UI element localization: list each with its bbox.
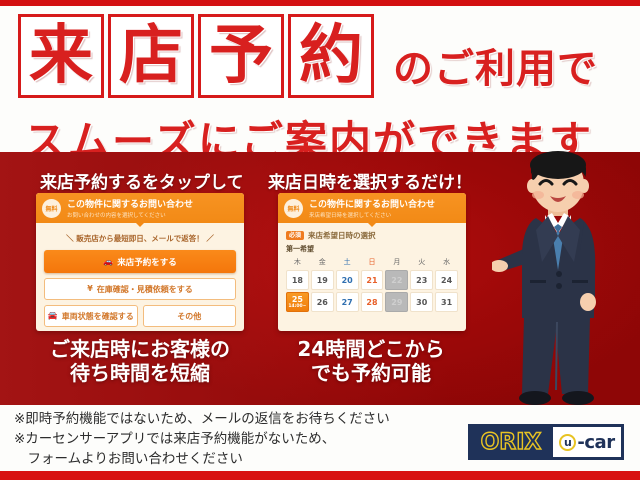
stock-quote-button[interactable]: ¥ 在庫確認・見積依頼をする <box>44 278 236 300</box>
header-notch <box>135 222 145 227</box>
calendar-day-19[interactable]: 19 <box>311 270 334 290</box>
salesman-illustration <box>492 150 624 408</box>
car-icon: 🚗 <box>103 258 113 266</box>
calendar-weekday-土: 土 <box>336 257 359 268</box>
calendar-day-31[interactable]: 31 <box>435 292 458 312</box>
calendar-day-21[interactable]: 21 <box>361 270 384 290</box>
boxed-kanji-3: 予 <box>198 14 284 98</box>
calendar-day-22: 22 <box>385 270 408 290</box>
mockup-header-subtitle: 来店希望日時を選択してください <box>309 211 435 219</box>
header-notch <box>367 222 377 227</box>
calendar-day-26[interactable]: 26 <box>311 292 334 312</box>
free-badge: 無料 <box>42 199 61 218</box>
calendar-grid[interactable]: 木金土日月火水181920212223242514:00~26272829303… <box>286 257 458 312</box>
calendar-day-number: 25 <box>292 295 303 304</box>
left-caption: ご来店時にお客様の 待ち時間を短縮 <box>18 337 262 386</box>
calendar-day-number: 27 <box>342 298 353 307</box>
bottom-red-rule <box>0 471 640 480</box>
calendar-weekday-月: 月 <box>385 257 408 268</box>
calendar-mockup: 無料 この物件に関するお問い合わせ 来店希望日時を選択してください 必須 来店希… <box>278 193 466 331</box>
boxed-kanji-1: 来 <box>18 14 104 98</box>
orix-wordmark: ORIX <box>469 425 553 459</box>
calendar-day-number: 20 <box>342 276 353 285</box>
boxed-kanji-4: 約 <box>288 14 374 98</box>
u-circle-icon: u <box>559 434 576 451</box>
calendar-day-number: 18 <box>292 276 303 285</box>
calendar-day-23[interactable]: 23 <box>410 270 433 290</box>
calendar-weekday-木: 木 <box>286 257 309 268</box>
inquiry-form-mockup: 無料 この物件に関するお問い合わせ お問い合わせの内容を選択してください ＼ 販… <box>36 193 244 331</box>
top-red-rule <box>0 0 640 6</box>
calendar-day-30[interactable]: 30 <box>410 292 433 312</box>
calendar-day-number: 31 <box>441 298 452 307</box>
calendar-weekday-日: 日 <box>361 257 384 268</box>
left-column-title: 来店予約するをタップして <box>40 168 244 193</box>
calendar-day-time: 14:00~ <box>288 304 306 309</box>
other-label: その他 <box>177 311 201 322</box>
calendar-day-number: 21 <box>366 276 377 285</box>
calendar-day-number: 22 <box>391 276 402 285</box>
ucar-mark: u -car <box>553 427 621 457</box>
calendar-weekday-水: 水 <box>435 257 458 268</box>
calendar-body: 必須 来店希望日時の選択 第一希望 木金土日月火水181920212223242… <box>278 223 466 318</box>
footer-notes: ※即時予約機能ではないため、メールの返信をお待ちください ※カーセンサーアプリで… <box>14 410 454 470</box>
calendar-day-number: 24 <box>441 276 452 285</box>
mockup-header-title: この物件に関するお問い合わせ <box>67 197 193 210</box>
calendar-weekday-金: 金 <box>311 257 334 268</box>
vehicle-condition-label: 車両状態を確認する <box>62 311 134 322</box>
other-button[interactable]: その他 <box>143 305 237 327</box>
right-caption: 24時間どこから でも予約可能 <box>266 337 476 386</box>
right-column-title: 来店日時を選択するだけ！ <box>268 168 472 193</box>
stock-quote-label: 在庫確認・見積依頼をする <box>97 284 193 295</box>
headline-area: 来 店 予 約 のご利用で スムーズにご案内ができます <box>0 8 640 152</box>
secondary-button-row: 🚘 車両状態を確認する その他 <box>44 305 236 327</box>
calendar-weekday-火: 火 <box>410 257 433 268</box>
calendar-day-24[interactable]: 24 <box>435 270 458 290</box>
car-icon: 🚘 <box>48 312 58 320</box>
calendar-field-label: 来店希望日時の選択 <box>308 230 376 241</box>
vehicle-condition-button[interactable]: 🚘 車両状態を確認する <box>44 305 138 327</box>
mockup-body: ＼ 販売店から最短即日、メールで返答！ ／ 🚗 来店予約をする ¥ 在庫確認・見… <box>36 223 244 331</box>
headline-tail: のご利用で <box>393 36 598 94</box>
calendar-day-25[interactable]: 2514:00~ <box>286 292 309 312</box>
calendar-day-number: 28 <box>366 298 377 307</box>
mockup-header: 無料 この物件に関するお問い合わせ お問い合わせの内容を選択してください <box>36 193 244 223</box>
yen-icon: ¥ <box>87 285 93 293</box>
reserve-visit-label: 来店予約をする <box>117 256 177 268</box>
calendar-day-number: 23 <box>416 276 427 285</box>
boxed-kanji-2: 店 <box>108 14 194 98</box>
calendar-day-number: 19 <box>317 276 328 285</box>
calendar-day-27[interactable]: 27 <box>336 292 359 312</box>
boxed-kanji-row: 来 店 予 約 <box>18 14 374 98</box>
calendar-day-20[interactable]: 20 <box>336 270 359 290</box>
calendar-field-label-row: 必須 来店希望日時の選択 <box>286 230 458 241</box>
mockup-header-title: この物件に関するお問い合わせ <box>309 197 435 210</box>
calendar-day-number: 29 <box>391 298 402 307</box>
mockup-header-text: この物件に関するお問い合わせ お問い合わせの内容を選択してください <box>67 197 193 219</box>
orix-ucar-logo: ORIX u -car <box>468 424 624 460</box>
mockup-header: 無料 この物件に関するお問い合わせ 来店希望日時を選択してください <box>278 193 466 223</box>
calendar-day-18[interactable]: 18 <box>286 270 309 290</box>
calendar-day-29: 29 <box>385 292 408 312</box>
mockup-header-subtitle: お問い合わせの内容を選択してください <box>67 211 193 219</box>
preference-label: 第一希望 <box>286 244 458 254</box>
free-badge: 無料 <box>284 199 303 218</box>
calendar-day-number: 30 <box>416 298 427 307</box>
required-badge: 必須 <box>286 231 304 241</box>
reserve-visit-button[interactable]: 🚗 来店予約をする <box>44 250 236 273</box>
mockup-header-text: この物件に関するお問い合わせ 来店希望日時を選択してください <box>309 197 435 219</box>
ucar-suffix: -car <box>577 432 614 453</box>
visit-reservation-banner: 来 店 予 約 のご利用で スムーズにご案内ができます 来店予約するをタップして… <box>0 0 640 480</box>
calendar-day-28[interactable]: 28 <box>361 292 384 312</box>
calendar-day-number: 26 <box>317 298 328 307</box>
lead-text: ＼ 販売店から最短即日、メールで返答！ ／ <box>44 233 236 244</box>
